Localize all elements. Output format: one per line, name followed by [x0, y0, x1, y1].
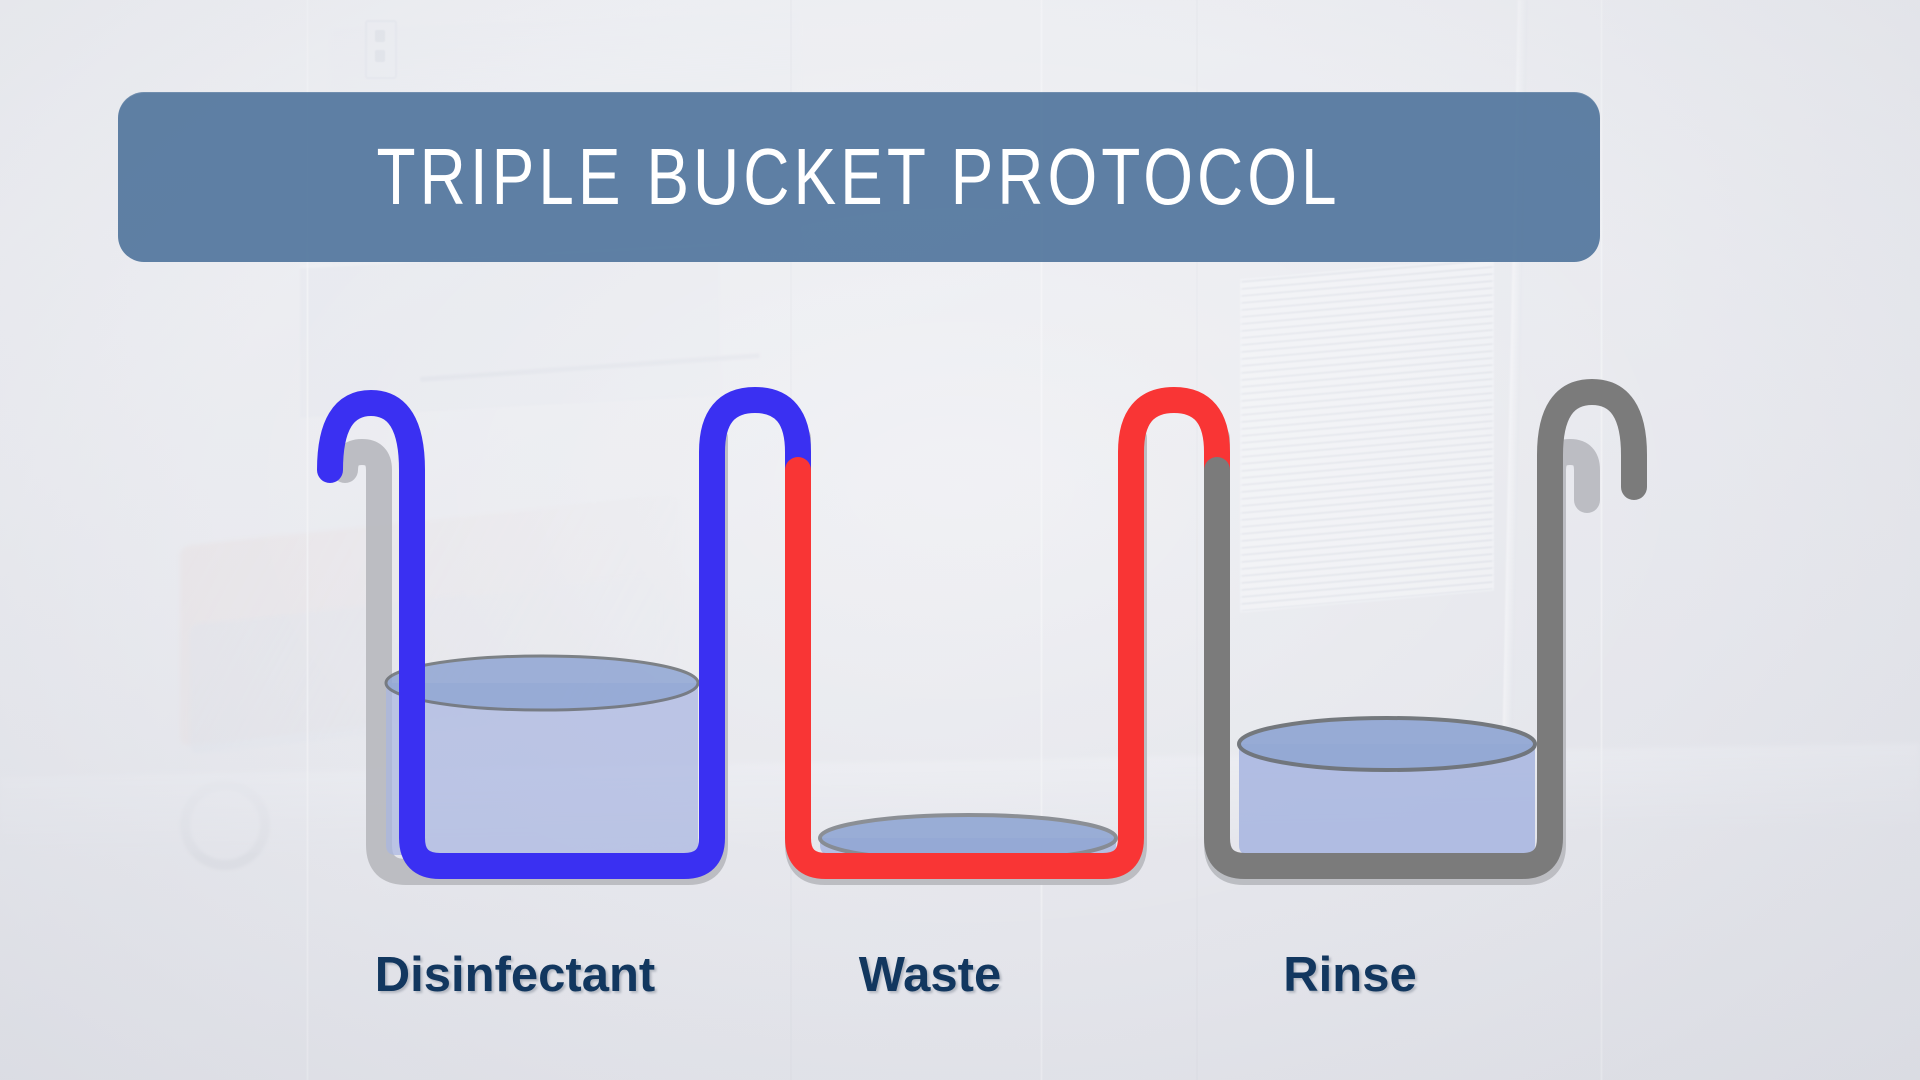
water-disinfectant — [386, 656, 698, 855]
bucket-label-waste: Waste — [795, 947, 1065, 1003]
water-surface — [386, 656, 698, 710]
bucket-outline-waste — [798, 400, 1217, 866]
bucket-label-rinse: Rinse — [1215, 947, 1485, 1003]
water-rinse — [1239, 718, 1535, 855]
water-surface — [1239, 718, 1535, 770]
bucket-diagram-svg — [0, 0, 1920, 1080]
bucket-label-disinfectant: Disinfectant — [330, 947, 700, 1003]
bucket-diagram — [0, 0, 1920, 1080]
